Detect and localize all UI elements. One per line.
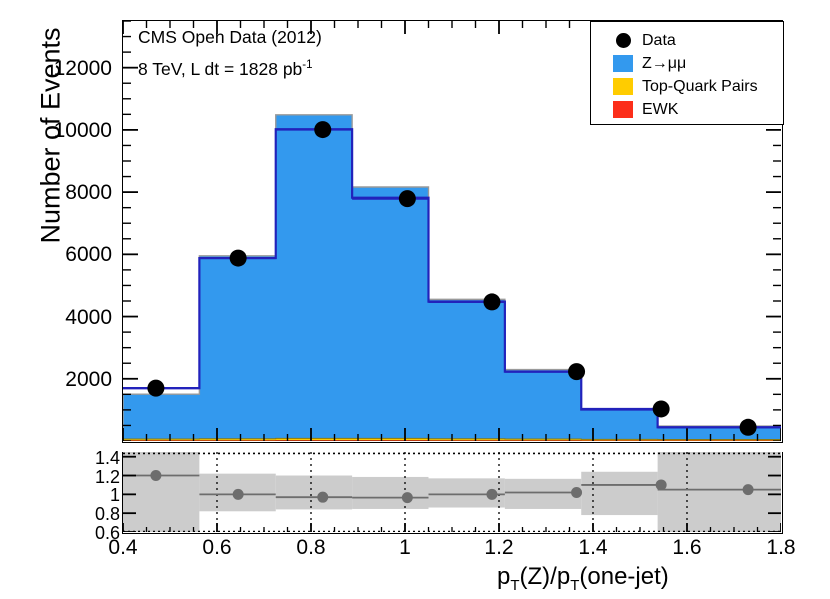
ratio-tick-label: 0.8 <box>60 505 120 523</box>
ewk-swatch-icon <box>613 101 633 118</box>
data-marker <box>399 190 416 207</box>
y-tick-label: 2000 <box>28 369 112 390</box>
ratio-axis-title: Data/MC <box>0 0 6 128</box>
legend-label-ewk: EWK <box>642 102 678 118</box>
figure-root: CMS Open Data (2012) 8 TeV, L dt = 1828 … <box>0 0 830 599</box>
x-tick-label: 1.8 <box>751 537 811 558</box>
data-marker <box>230 250 247 267</box>
ratio-marker <box>233 489 244 500</box>
main-histogram-pad: CMS Open Data (2012) 8 TeV, L dt = 1828 … <box>122 20 783 443</box>
x-axis-title: pT(Z)/pT(one-jet) <box>497 563 669 594</box>
ratio-marker <box>317 492 328 503</box>
y-tick-label: 10000 <box>28 120 112 141</box>
ratio-tick-label: 1.2 <box>60 468 120 486</box>
ratio-marker <box>743 484 754 495</box>
x-tick-label: 1.4 <box>563 537 623 558</box>
ratio-marker <box>486 489 497 500</box>
caption-luminosity-text: 8 TeV, L dt = 1828 pb <box>138 58 302 78</box>
zmumu-swatch-icon <box>613 55 633 72</box>
y-tick-label: 6000 <box>28 244 112 265</box>
legend-entry-top: Top-Quark Pairs <box>613 75 783 98</box>
legend-label-zmumu: Z→μμ <box>642 56 686 72</box>
y-tick-label: 8000 <box>28 182 112 203</box>
caption-luminosity-exponent: -1 <box>302 59 312 71</box>
ratio-band-bin <box>505 479 581 509</box>
y-tick-label: 4000 <box>28 307 112 328</box>
ratio-tick-label: 1 <box>60 486 120 504</box>
ratio-pad <box>122 452 783 534</box>
x-tick-label: 0.6 <box>187 537 247 558</box>
x-tick-label: 1 <box>375 537 435 558</box>
data-marker <box>147 380 164 397</box>
ratio-svg <box>123 452 781 532</box>
ratio-uncertainty-band <box>123 452 781 532</box>
data-marker <box>483 293 500 310</box>
legend-entry-ewk: EWK <box>613 98 783 121</box>
ratio-band-bin <box>581 472 657 515</box>
ratio-marker <box>571 487 582 498</box>
ratio-marker <box>150 470 161 481</box>
ratio-band-bin <box>276 476 352 510</box>
x-tick-label: 1.6 <box>657 537 717 558</box>
ratio-marker <box>402 492 413 503</box>
data-marker <box>568 363 585 380</box>
ratio-band-bin <box>352 477 428 509</box>
stack-zmumu <box>123 115 781 441</box>
data-marker-icon <box>613 32 633 49</box>
x-tick-label: 0.8 <box>281 537 341 558</box>
legend-label-data: Data <box>642 33 676 49</box>
legend-entry-data: Data <box>613 29 783 52</box>
legend: Data Z→μμ Top-Quark Pairs EWK <box>590 21 784 125</box>
caption-cms: CMS Open Data (2012) <box>138 29 322 47</box>
caption-luminosity: 8 TeV, L dt = 1828 pb-1 <box>138 60 322 78</box>
ratio-band-bin <box>658 452 781 532</box>
top-swatch-icon <box>613 78 633 95</box>
ratio-plot-area <box>123 452 782 533</box>
ratio-band-bin <box>123 452 199 532</box>
legend-entry-zmumu: Z→μμ <box>613 52 783 75</box>
data-marker <box>740 419 757 436</box>
x-tick-label: 0.4 <box>93 537 153 558</box>
x-tick-label: 1.2 <box>469 537 529 558</box>
data-marker <box>653 400 670 417</box>
ratio-tick-label: 1.4 <box>60 449 120 467</box>
data-marker <box>314 121 331 138</box>
legend-label-top: Top-Quark Pairs <box>642 79 758 95</box>
caption-block: CMS Open Data (2012) 8 TeV, L dt = 1828 … <box>138 29 322 78</box>
y-tick-label: 12000 <box>28 58 112 79</box>
